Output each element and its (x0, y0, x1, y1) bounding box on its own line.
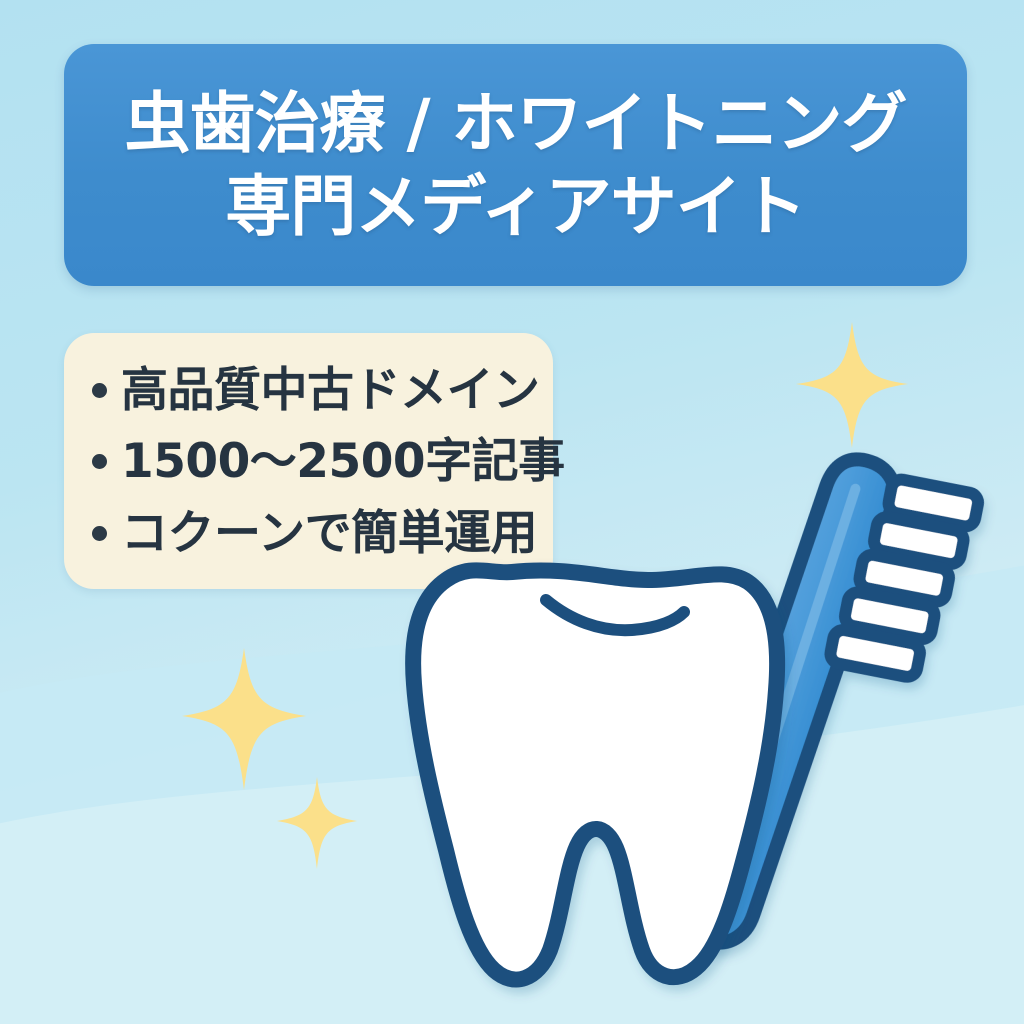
tooth-icon (413, 570, 777, 979)
dental-illustration (0, 0, 1024, 1024)
sparkle-icon-large-right (796, 322, 908, 448)
sparkle-icon-large-left (182, 648, 306, 790)
sparkle-icon-small-left (277, 777, 357, 869)
poster-canvas: 虫歯治療 / ホワイトニング 専門メディアサイト 高品質中古ドメイン 1500〜… (0, 0, 1024, 1024)
